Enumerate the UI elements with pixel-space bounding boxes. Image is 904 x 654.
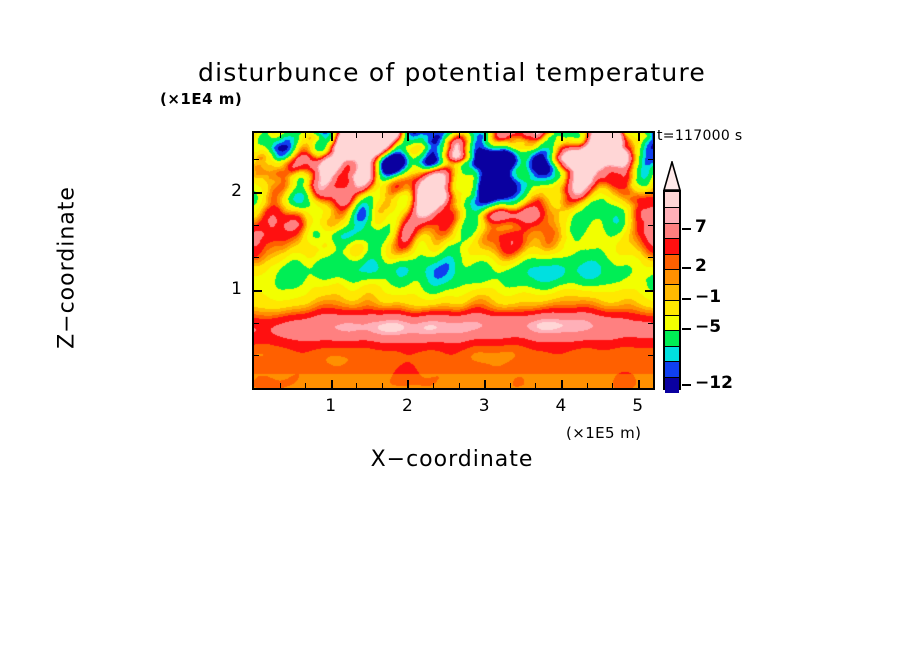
colorbar-band	[665, 254, 679, 270]
x-tick	[535, 383, 536, 388]
x-tick	[510, 383, 511, 388]
colorbar-band	[665, 284, 679, 300]
colorbar-band-divider	[665, 315, 679, 316]
colorbar-tick	[682, 267, 691, 269]
x-tick	[587, 383, 588, 388]
x-tick-top	[407, 133, 409, 141]
colorbar-band-divider	[665, 361, 679, 362]
colorbar-tick	[682, 298, 691, 300]
y-tick-label: 1	[212, 279, 242, 299]
x-tick	[407, 380, 409, 388]
contour-field-canvas	[254, 133, 653, 388]
colorbar: 72−1−5−12	[663, 190, 681, 390]
colorbar-band-divider	[665, 346, 679, 347]
colorbar-band	[665, 192, 679, 208]
y-tick-right	[648, 225, 653, 226]
x-tick	[459, 383, 460, 388]
x-tick	[305, 383, 306, 388]
colorbar-band	[665, 300, 679, 316]
y-tick	[254, 355, 259, 356]
x-tick	[433, 383, 434, 388]
x-tick-top	[331, 133, 333, 141]
colorbar-band	[665, 377, 679, 393]
colorbar-tick-label: −1	[695, 287, 721, 307]
colorbar-arrow-icon	[663, 161, 681, 191]
y-tick-right	[648, 257, 653, 258]
x-tick-top	[305, 133, 306, 138]
x-tick-top	[587, 133, 588, 138]
colorbar-band-divider	[665, 254, 679, 255]
x-tick	[280, 383, 281, 388]
colorbar-band-divider	[665, 284, 679, 285]
x-tick-top	[535, 133, 536, 138]
y-tick-right	[648, 159, 653, 160]
x-tick-top	[612, 133, 613, 138]
x-tick	[561, 380, 563, 388]
colorbar-band	[665, 315, 679, 331]
x-tick-top	[484, 133, 486, 141]
x-tick-label: 5	[618, 396, 658, 416]
colorbar-bands	[663, 190, 681, 390]
x-tick-top	[280, 133, 281, 138]
y-tick	[254, 225, 259, 226]
colorbar-tick-label: −12	[695, 373, 733, 393]
colorbar-band	[665, 361, 679, 377]
y-axis-title: Z−coordinate	[55, 138, 80, 398]
x-axis-title: X−coordinate	[0, 447, 904, 472]
colorbar-tick-label: 7	[695, 217, 707, 237]
colorbar-band-divider	[665, 223, 679, 224]
x-tick-label: 2	[387, 396, 427, 416]
colorbar-band-divider	[665, 300, 679, 301]
x-tick	[356, 383, 357, 388]
x-tick-top	[638, 133, 640, 141]
x-tick-top	[433, 133, 434, 138]
x-tick	[484, 380, 486, 388]
x-tick-label: 1	[311, 396, 351, 416]
x-tick-top	[356, 133, 357, 138]
colorbar-tick	[682, 228, 691, 230]
contour-plot-panel	[252, 131, 655, 390]
colorbar-band	[665, 238, 679, 254]
x-axis-units-label: (×1E5 m)	[566, 424, 641, 442]
x-tick-label: 4	[541, 396, 581, 416]
x-tick	[638, 380, 640, 388]
x-tick-top	[561, 133, 563, 141]
colorbar-band	[665, 330, 679, 346]
page-title: disturbunce of potential temperature	[0, 58, 904, 87]
y-tick-right	[645, 192, 653, 194]
y-axis-units-label: (×1E4 m)	[160, 90, 242, 108]
colorbar-band-divider	[665, 377, 679, 378]
colorbar-band	[665, 223, 679, 239]
x-tick-top	[459, 133, 460, 138]
y-tick-right	[648, 323, 653, 324]
y-tick	[254, 159, 259, 160]
x-tick	[612, 383, 613, 388]
colorbar-band	[665, 346, 679, 362]
x-tick	[382, 383, 383, 388]
colorbar-tick-label: 2	[695, 256, 707, 276]
y-tick	[254, 323, 259, 324]
x-tick-top	[510, 133, 511, 138]
colorbar-band-divider	[665, 330, 679, 331]
y-tick	[254, 290, 262, 292]
x-tick-label: 3	[464, 396, 504, 416]
colorbar-band-divider	[665, 207, 679, 208]
y-tick	[254, 192, 262, 194]
colorbar-band-divider	[665, 269, 679, 270]
colorbar-band-divider	[665, 238, 679, 239]
figure-root: disturbunce of potential temperature (×1…	[0, 0, 904, 654]
colorbar-tick-label: −5	[695, 317, 721, 337]
y-tick-right	[645, 290, 653, 292]
colorbar-band	[665, 269, 679, 285]
y-tick-label: 2	[212, 181, 242, 201]
y-tick	[254, 257, 259, 258]
colorbar-tick	[682, 328, 691, 330]
time-annotation: t=117000 s	[657, 128, 742, 144]
colorbar-tick	[682, 384, 691, 386]
colorbar-band	[665, 207, 679, 223]
x-tick-top	[382, 133, 383, 138]
x-tick	[331, 380, 333, 388]
y-tick-right	[648, 355, 653, 356]
